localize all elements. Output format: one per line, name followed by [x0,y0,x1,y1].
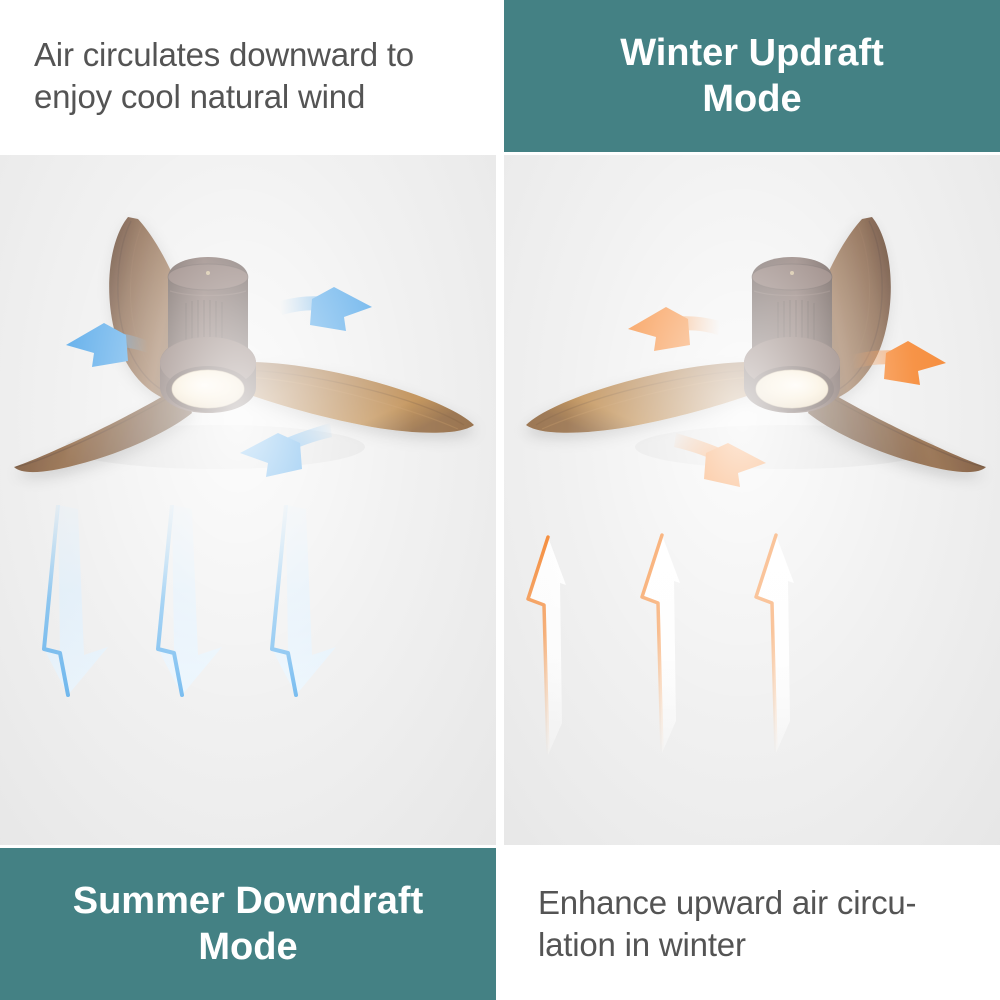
fan-svg-summer [0,195,496,525]
left-footer-panel: Summer Downdraft Mode [0,848,496,1000]
column-gap-header [496,0,504,152]
downflow-arrow-3 [272,505,336,695]
fan-hub [160,337,256,413]
downflow-svg [0,505,496,805]
downflow-arrow-1 [44,505,108,695]
column-gap-images [496,155,504,845]
winter-upflow-arrows [504,505,1000,805]
right-image-panel [504,155,1000,845]
column-gap-footer [496,848,504,1000]
upflow-arrow-2 [642,535,680,753]
right-footer-panel: Enhance upward air circu- lation in wint… [504,848,1000,1000]
left-footer-text: Summer Downdraft Mode [73,878,423,971]
right-footer-text: Enhance upward air circu- lation in wint… [538,882,916,966]
fan-hub [744,337,840,413]
right-header-line-1: Winter Updraft [620,32,884,74]
upflow-arrow-3 [756,535,794,753]
right-header-panel: Winter Updraft Mode [504,0,1000,152]
winter-fan-illustration [504,195,1000,525]
right-header-line-2: Mode [702,78,801,120]
product-infographic: Air circulates downward to enjoy cool na… [0,0,1000,1000]
right-header-text: Winter Updraft Mode [620,30,884,123]
left-header-line-2: enjoy cool natural wind [34,78,365,115]
upflow-arrow-1 [528,537,566,755]
right-footer-line-1: Enhance upward air circu- [538,884,916,921]
left-header-text: Air circulates downward to enjoy cool na… [34,34,414,118]
right-footer-line-2: lation in winter [538,926,746,963]
left-image-panel [0,155,496,845]
airflow-arrow-left [628,307,720,351]
fan-svg-winter [504,195,1000,525]
summer-fan-illustration [0,195,496,525]
left-header-panel: Air circulates downward to enjoy cool na… [0,0,496,152]
summer-downflow-arrows [0,505,496,805]
upflow-svg [504,505,1000,805]
left-header-line-1: Air circulates downward to [34,36,414,73]
left-footer-line-2: Mode [198,926,297,968]
airflow-arrow-right [280,287,372,331]
left-footer-line-1: Summer Downdraft [73,880,423,922]
downflow-arrow-2 [158,505,222,695]
